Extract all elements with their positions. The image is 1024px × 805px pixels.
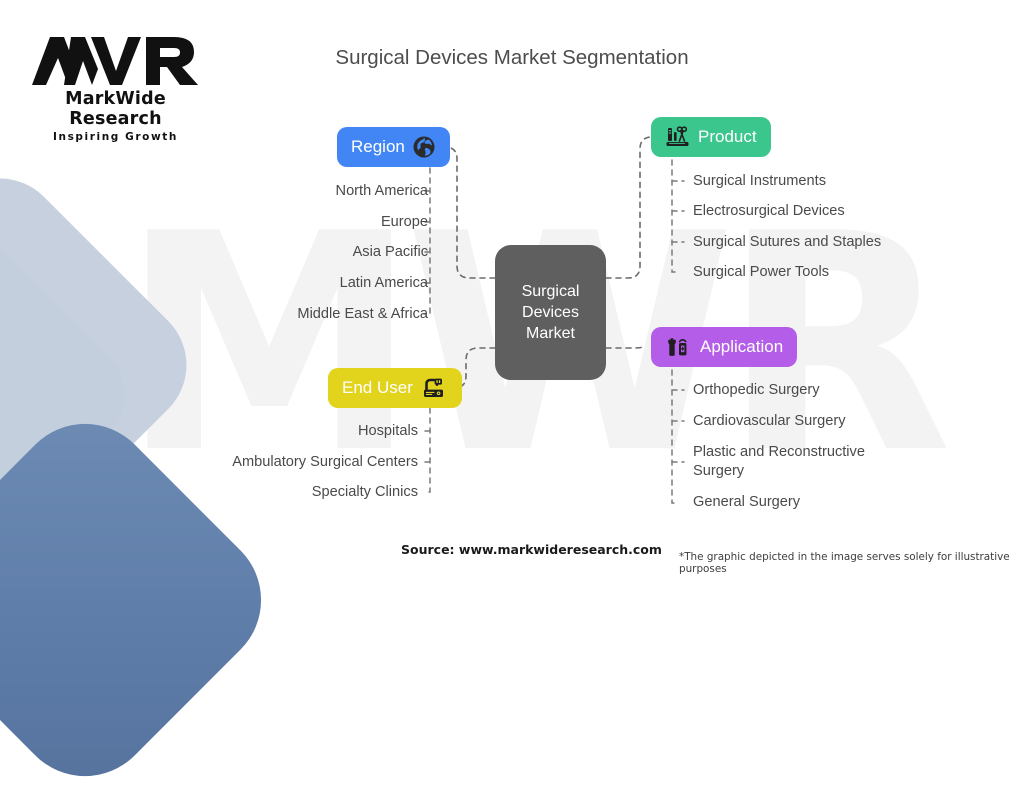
leaf-item: Hospitals bbox=[150, 423, 418, 439]
branch-badge-application[interactable]: Application bbox=[651, 327, 797, 367]
leaf-item: Surgical Power Tools bbox=[693, 264, 829, 280]
leaf-item: Surgical Instruments bbox=[693, 173, 826, 189]
globe-icon bbox=[412, 135, 436, 159]
branch-badge-region[interactable]: Region bbox=[337, 127, 450, 167]
source-text: Source: www.markwideresearch.com bbox=[401, 542, 662, 557]
leaf-item: Asia Pacific bbox=[180, 244, 428, 260]
medical-device-icon bbox=[420, 375, 448, 401]
branch-label-application: Application bbox=[700, 337, 783, 357]
leaf-item: Cardiovascular Surgery bbox=[693, 413, 846, 429]
leaf-item: General Surgery bbox=[693, 494, 800, 510]
branch-badge-enduser[interactable]: End User bbox=[328, 368, 462, 408]
leaf-item: Latin America bbox=[180, 275, 428, 291]
branch-label-product: Product bbox=[698, 127, 757, 147]
leaf-item: Plastic and Reconstructive Surgery bbox=[693, 443, 873, 481]
center-node: SurgicalDevicesMarket bbox=[495, 245, 606, 380]
center-node-label: SurgicalDevicesMarket bbox=[522, 281, 580, 344]
sanitizer-dispenser-icon bbox=[665, 334, 693, 360]
branch-badge-product[interactable]: Product bbox=[651, 117, 771, 157]
leaf-item: North America bbox=[180, 183, 428, 199]
disclaimer-text: *The graphic depicted in the image serve… bbox=[679, 551, 1024, 575]
leaf-item: Middle East & Africa bbox=[180, 306, 428, 322]
leaf-item: Ambulatory Surgical Centers bbox=[150, 454, 418, 470]
branch-label-enduser: End User bbox=[342, 378, 413, 398]
branch-label-region: Region bbox=[351, 137, 405, 157]
leaf-item: Europe bbox=[180, 214, 428, 230]
leaf-item: Electrosurgical Devices bbox=[693, 203, 845, 219]
leaf-item: Orthopedic Surgery bbox=[693, 382, 820, 398]
leaf-item: Specialty Clinics bbox=[150, 484, 418, 500]
surgical-instruments-icon bbox=[665, 124, 691, 150]
infographic-canvas: MWR MarkWide Research Inspiring Growth S… bbox=[0, 0, 1024, 576]
leaf-item: Surgical Sutures and Staples bbox=[693, 234, 881, 250]
